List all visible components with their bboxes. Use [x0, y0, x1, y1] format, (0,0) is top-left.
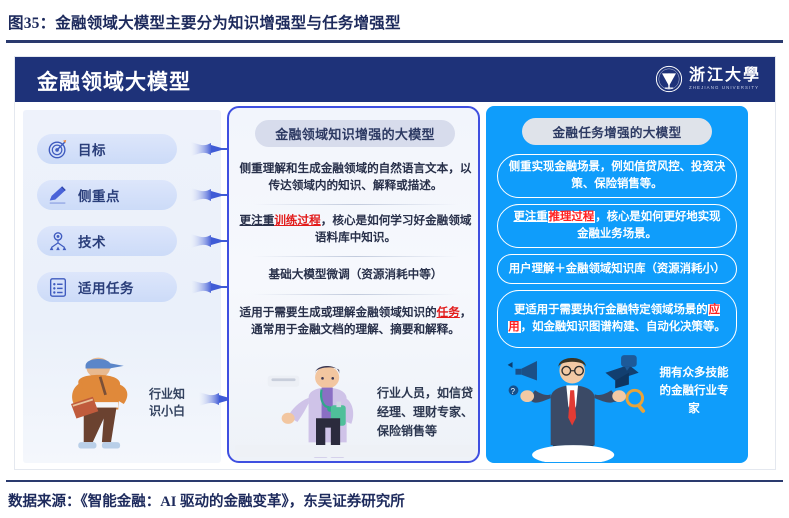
- mid-divider-3: [253, 294, 458, 295]
- left-persona-label: 行业知识小白: [149, 386, 195, 420]
- mid-block-tech: 基础大模型微调（资源消耗中等）: [239, 266, 472, 283]
- checklist-icon: [47, 276, 69, 298]
- slide-title: 金融领域大模型: [37, 66, 191, 96]
- caption-divider: [6, 40, 783, 43]
- arrow-goal: [189, 140, 231, 158]
- people-network-icon: [47, 230, 69, 252]
- dimension-item-technology[interactable]: 技术: [37, 226, 177, 256]
- dimension-label: 目标: [78, 139, 106, 159]
- mid-block-tasks: 适用于需要生成或理解金融领域知识的任务，通常用于金融文档的理解、摘要和解释。: [239, 304, 472, 338]
- arrow-right-icon: [189, 186, 231, 204]
- dimension-label: 适用任务: [78, 277, 134, 297]
- mid-panel-chip: 金融领域知识增强的大模型: [255, 120, 455, 147]
- multitask-expert-illustration: ?: [492, 346, 668, 462]
- dimension-label: 侧重点: [78, 185, 120, 205]
- right-block-focus: 更注重推理过程，核心是如何更好地实现金融业务场景。: [497, 204, 737, 248]
- knowledge-enhanced-panel: 金融领域知识增强的大模型 侧重理解和生成金融领域的自然语言文本，以传达领域内的知…: [227, 106, 480, 463]
- arrow-focus: [189, 186, 231, 204]
- logo-text-en: ZHEJIANG UNIVERSITY: [689, 84, 759, 91]
- right-block-goal: 侧重实现金融场景，例如信贷风控、投资决策、保险销售等。: [497, 154, 737, 198]
- slide-body: 目标 侧重点: [15, 102, 776, 470]
- mid-persona-label: 行业人员，如信贷经理、理财专家、保险销售等: [377, 384, 473, 441]
- arrow-right-icon: [189, 232, 231, 250]
- dimension-label: 技术: [78, 231, 106, 251]
- mid-divider-2: [253, 256, 458, 257]
- footer-divider: [6, 480, 783, 482]
- right-block-tasks: 更适用于需要执行金融特定领域场景的应用，如金融知识图谱构建、自动化决策等。: [497, 290, 737, 348]
- right-persona: ?: [486, 346, 748, 462]
- university-seal-icon: [655, 65, 683, 93]
- dimension-item-focus[interactable]: 侧重点: [37, 180, 177, 210]
- pencil-icon: [47, 184, 69, 206]
- logo-text: 浙江大學 ZHEJIANG UNIVERSITY: [689, 68, 761, 91]
- task-enhanced-panel: 金融任务增强的大模型 侧重实现金融场景，例如信贷风控、投资决策、保险销售等。 更…: [486, 106, 748, 463]
- mid-divider-1: [253, 204, 458, 205]
- mid-block-focus: 更注重训练过程，核心是如何学习好金融领域语料库中知识。: [239, 212, 472, 246]
- mid-block-goal: 侧重理解和生成金融领域的自然语言文本，以传达领域内的知识、解释或描述。: [239, 160, 472, 194]
- slide-container: 金融领域大模型 浙江大學 ZHEJIANG UNIVERSITY: [14, 56, 776, 470]
- slide-header: 金融领域大模型 浙江大學 ZHEJIANG UNIVERSITY: [15, 57, 776, 102]
- dimension-item-goal[interactable]: 目标: [37, 134, 177, 164]
- dimension-item-tasks[interactable]: 适用任务: [37, 272, 177, 302]
- left-dimension-column: 目标 侧重点: [23, 110, 221, 463]
- arrow-technology: [189, 232, 231, 250]
- arrow-tasks: [189, 278, 231, 296]
- figure-page: 图35：金融领域大模型主要分为知识增强型与任务增强型 金融领域大模型 浙江大學 …: [0, 0, 789, 518]
- right-panel-chip: 金融任务增强的大模型: [522, 118, 712, 145]
- figure-caption: 图35：金融领域大模型主要分为知识增强型与任务增强型: [8, 11, 401, 33]
- zhejiang-university-logo: 浙江大學 ZHEJIANG UNIVERSITY: [655, 65, 761, 93]
- left-persona: 行业知识小白: [45, 350, 215, 458]
- target-icon: [47, 138, 69, 160]
- right-persona-label: 拥有众多技能的金融行业专家: [654, 364, 734, 418]
- arrow-right-icon: [189, 278, 231, 296]
- source-note: 数据来源：《智能金融：AI 驱动的金融变革》，东吴证券研究所: [8, 490, 405, 511]
- svg-text:?: ?: [511, 387, 516, 396]
- mid-footer-bar: [235, 445, 476, 457]
- student-illustration: [51, 350, 151, 458]
- logo-text-cn: 浙江大學: [689, 68, 761, 84]
- arrow-right-icon: [189, 140, 231, 158]
- right-block-tech: 用户理解＋金融领域知识库（资源消耗小）: [497, 254, 737, 284]
